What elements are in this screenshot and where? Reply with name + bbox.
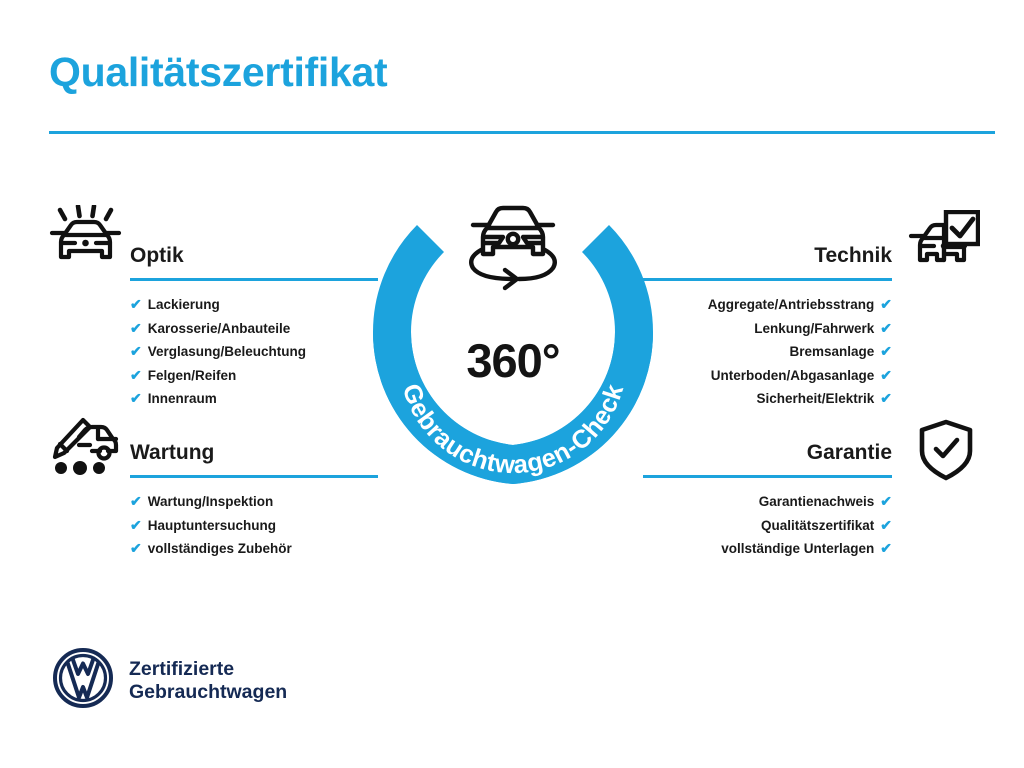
list-item-label: vollständiges Zubehör [148, 537, 292, 561]
list-item: Garantienachweis ✔ [643, 490, 892, 514]
check-icon: ✔ [130, 364, 142, 388]
footer-logo: Zertifizierte Gebrauchtwagen [52, 647, 287, 714]
section-technik-title: Technik [643, 243, 892, 269]
section-garantie-list: Garantienachweis ✔ Qualitätszertifikat ✔… [643, 490, 892, 561]
check-icon: ✔ [130, 537, 142, 561]
list-item: ✔ Hauptuntersuchung [130, 514, 378, 538]
section-technik: Technik Aggregate/Antriebsstrang ✔ Lenku… [643, 243, 892, 411]
section-optik-header: Optik [130, 243, 378, 281]
check-icon: ✔ [130, 387, 142, 411]
list-item: Lenkung/Fahrwerk ✔ [643, 317, 892, 341]
check-icon: ✔ [130, 340, 142, 364]
check-icon: ✔ [880, 387, 892, 411]
certificate-page: Qualitätszertifikat Optik [0, 0, 1024, 768]
footer-logo-line1: Zertifizierte [129, 658, 287, 681]
pencil-car-service-icon [48, 415, 122, 482]
section-garantie-title: Garantie [643, 440, 892, 466]
list-item-label: Verglasung/Beleuchtung [148, 340, 306, 364]
list-item: Sicherheit/Elektrik ✔ [643, 387, 892, 411]
list-item: ✔ Karosserie/Anbauteile [130, 317, 378, 341]
list-item: ✔ Felgen/Reifen [130, 364, 378, 388]
list-item-label: Hauptuntersuchung [148, 514, 276, 538]
check-icon: ✔ [880, 537, 892, 561]
section-garantie: Garantie Garantienachweis ✔ Qualitätszer… [643, 440, 892, 561]
check-icon: ✔ [880, 490, 892, 514]
volkswagen-logo-icon [52, 647, 114, 714]
section-optik-divider [130, 278, 378, 281]
section-wartung: Wartung ✔ Wartung/Inspektion ✔ Hauptunte… [130, 440, 378, 561]
check-icon: ✔ [880, 364, 892, 388]
list-item: vollständige Unterlagen ✔ [643, 537, 892, 561]
check-icon: ✔ [880, 317, 892, 341]
check-icon: ✔ [130, 490, 142, 514]
car-checkbox-icon [908, 210, 980, 279]
list-item-label: Innenraum [148, 387, 217, 411]
section-technik-list: Aggregate/Antriebsstrang ✔ Lenkung/Fahrw… [643, 293, 892, 411]
list-item-label: Aggregate/Antriebsstrang [708, 293, 875, 317]
list-item-label: Karosserie/Anbauteile [148, 317, 291, 341]
title-divider [49, 131, 995, 134]
list-item: ✔ Verglasung/Beleuchtung [130, 340, 378, 364]
list-item: Bremsanlage ✔ [643, 340, 892, 364]
section-optik-list: ✔ Lackierung ✔ Karosserie/Anbauteile ✔ V… [130, 293, 378, 411]
section-wartung-divider [130, 475, 378, 478]
badge-value: 360° [373, 333, 653, 389]
list-item-label: Lackierung [148, 293, 220, 317]
list-item: Qualitätszertifikat ✔ [643, 514, 892, 538]
list-item-label: Bremsanlage [789, 340, 874, 364]
check-icon: ✔ [880, 293, 892, 317]
list-item-label: Unterboden/Abgasanlage [711, 364, 875, 388]
car-shine-icon [48, 205, 122, 280]
section-garantie-header: Garantie [643, 440, 892, 478]
list-item-label: Felgen/Reifen [148, 364, 237, 388]
section-optik-title: Optik [130, 243, 378, 269]
footer-logo-text: Zertifizierte Gebrauchtwagen [129, 658, 287, 704]
check-icon: ✔ [130, 514, 142, 538]
section-technik-header: Technik [643, 243, 892, 281]
list-item-label: Garantienachweis [759, 490, 875, 514]
section-technik-divider [643, 278, 892, 281]
badge-ring-text: Gebrauchtwagen-Check [397, 380, 630, 479]
list-item-label: Lenkung/Fahrwerk [754, 317, 874, 341]
footer-logo-line2: Gebrauchtwagen [129, 681, 287, 704]
list-item: ✔ Wartung/Inspektion [130, 490, 378, 514]
section-wartung-header: Wartung [130, 440, 378, 478]
360-check-badge: Gebrauchtwagen-Check [373, 192, 653, 484]
page-title: Qualitätszertifikat [49, 52, 387, 93]
list-item: Unterboden/Abgasanlage ✔ [643, 364, 892, 388]
list-item-label: Sicherheit/Elektrik [756, 387, 874, 411]
shield-check-icon [916, 418, 976, 487]
list-item: ✔ Innenraum [130, 387, 378, 411]
list-item-label: Qualitätszertifikat [761, 514, 874, 538]
check-icon: ✔ [880, 340, 892, 364]
check-icon: ✔ [130, 293, 142, 317]
list-item-label: vollständige Unterlagen [721, 537, 874, 561]
list-item-label: Wartung/Inspektion [148, 490, 274, 514]
check-icon: ✔ [880, 514, 892, 538]
list-item: ✔ vollständiges Zubehör [130, 537, 378, 561]
section-wartung-list: ✔ Wartung/Inspektion ✔ Hauptuntersuchung… [130, 490, 378, 561]
section-optik: Optik ✔ Lackierung ✔ Karosserie/Anbautei… [130, 243, 378, 411]
check-icon: ✔ [130, 317, 142, 341]
section-wartung-title: Wartung [130, 440, 378, 466]
list-item: ✔ Lackierung [130, 293, 378, 317]
car-rotate-360-icon [471, 208, 555, 288]
section-garantie-divider [643, 475, 892, 478]
list-item: Aggregate/Antriebsstrang ✔ [643, 293, 892, 317]
